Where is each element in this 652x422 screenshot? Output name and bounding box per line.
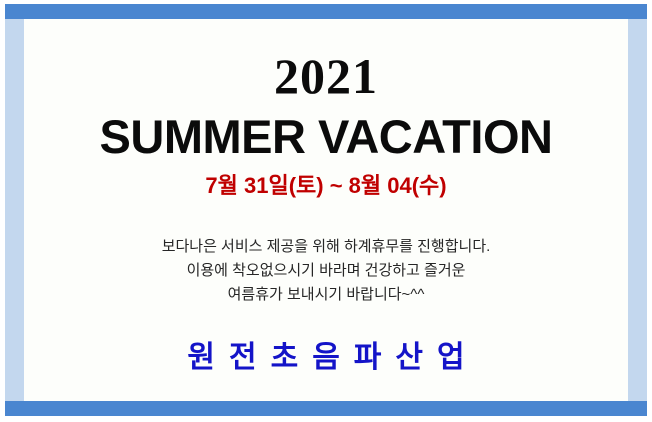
notice-headline: SUMMER VACATION [24,102,628,164]
frame-bottom-bar [5,401,647,416]
notice-message: 보다나은 서비스 제공을 위해 하계휴무를 진행합니다. 이용에 착오없으시기 … [24,199,628,307]
message-line: 여름휴가 보내시기 바랍니다~^^ [24,283,628,307]
frame-right-rail [628,19,647,401]
notice-content-area: 2021 SUMMER VACATION 7월 31일(토) ~ 8월 04(수… [24,19,628,401]
message-line: 이용에 착오없으시기 바라며 건강하고 즐거운 [24,259,628,283]
notice-year: 2021 [24,19,628,102]
notice-date-range: 7월 31일(토) ~ 8월 04(수) [24,164,628,199]
company-name: 원전초음파산업 [24,307,628,377]
frame-left-rail [5,19,24,401]
frame-top-bar [5,4,647,19]
vacation-notice-card: 2021 SUMMER VACATION 7월 31일(토) ~ 8월 04(수… [0,0,652,422]
message-line: 보다나은 서비스 제공을 위해 하계휴무를 진행합니다. [24,235,628,259]
